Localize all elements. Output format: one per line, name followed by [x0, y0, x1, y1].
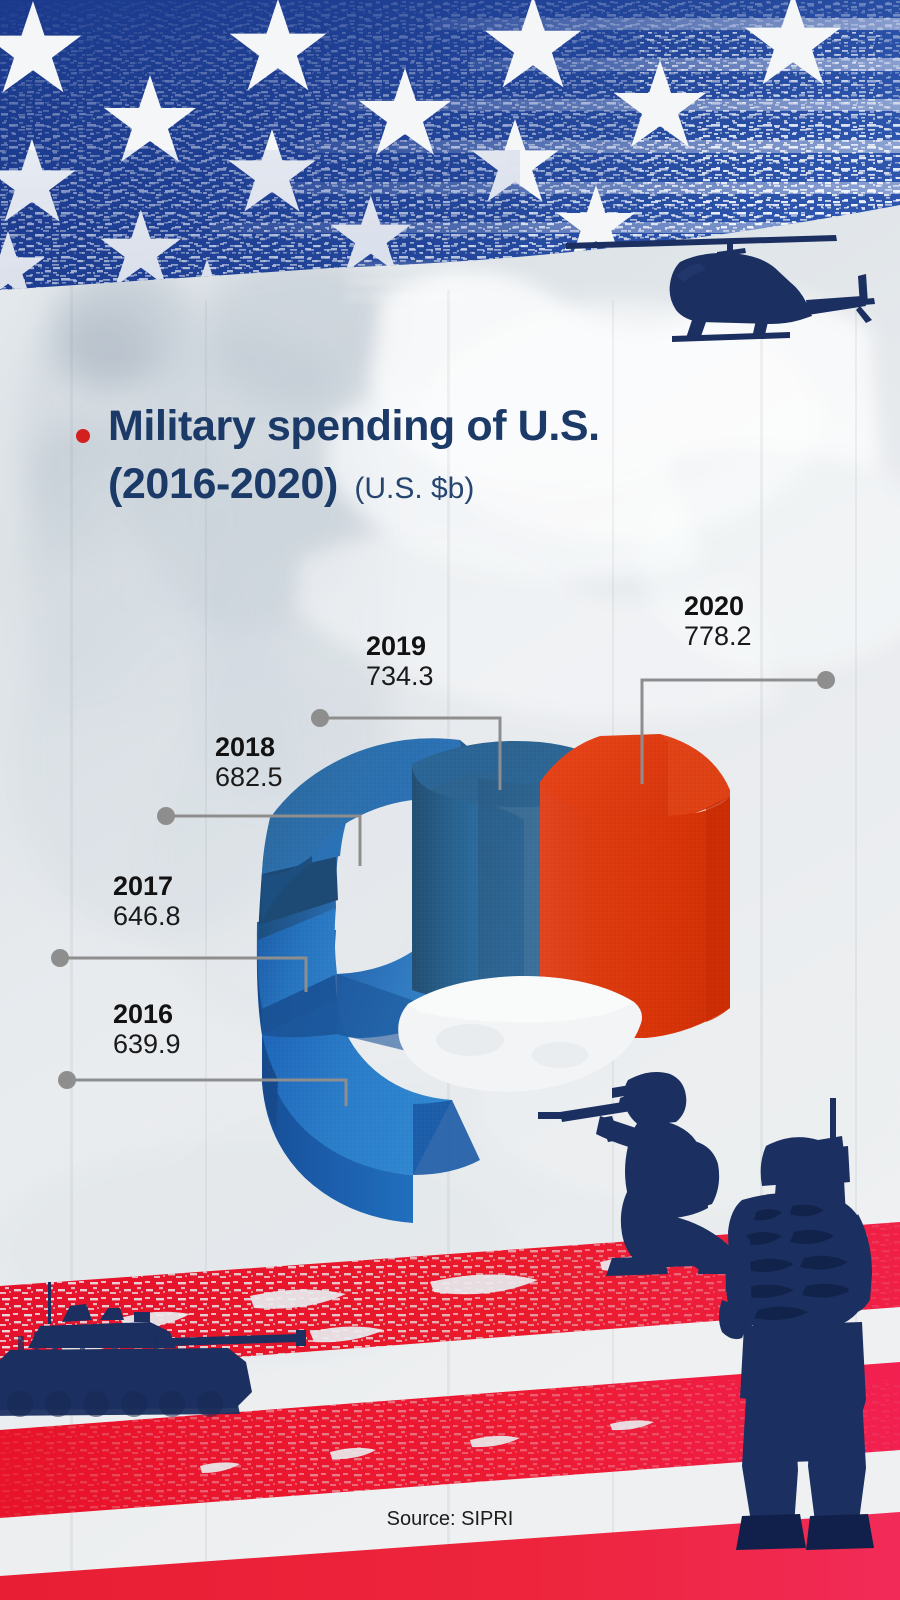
title-unit: (U.S. $b)	[354, 472, 474, 505]
callout-value-2020: 778.2	[684, 621, 752, 651]
callout-value-2016: 639.9	[113, 1029, 181, 1059]
title-line-1: Military spending of U.S.	[108, 405, 848, 448]
callout-year-2018: 2018	[215, 733, 283, 762]
source-note: Source: SIPRI	[0, 1508, 900, 1531]
callout-value-2019: 734.3	[366, 661, 434, 691]
title-bullet-icon	[76, 429, 90, 443]
callout-2019: 2019 734.3	[366, 632, 434, 691]
callout-year-2017: 2017	[113, 872, 181, 901]
title-line-2: (2016-2020)	[108, 460, 338, 508]
page-title: Military spending of U.S. (2016-2020) (U…	[108, 405, 848, 506]
callout-2017: 2017 646.8	[113, 872, 181, 931]
callout-value-2017: 646.8	[113, 901, 181, 931]
callout-value-2018: 682.5	[215, 762, 283, 792]
callout-year-2019: 2019	[366, 632, 434, 661]
standing-soldier-silhouette	[0, 0, 900, 1600]
callout-2020: 2020 778.2	[684, 592, 752, 651]
infographic-canvas: Military spending of U.S. (2016-2020) (U…	[0, 0, 900, 1600]
callout-2016: 2016 639.9	[113, 1000, 181, 1059]
callout-year-2020: 2020	[684, 592, 752, 621]
callout-year-2016: 2016	[113, 1000, 181, 1029]
callout-2018: 2018 682.5	[215, 733, 283, 792]
